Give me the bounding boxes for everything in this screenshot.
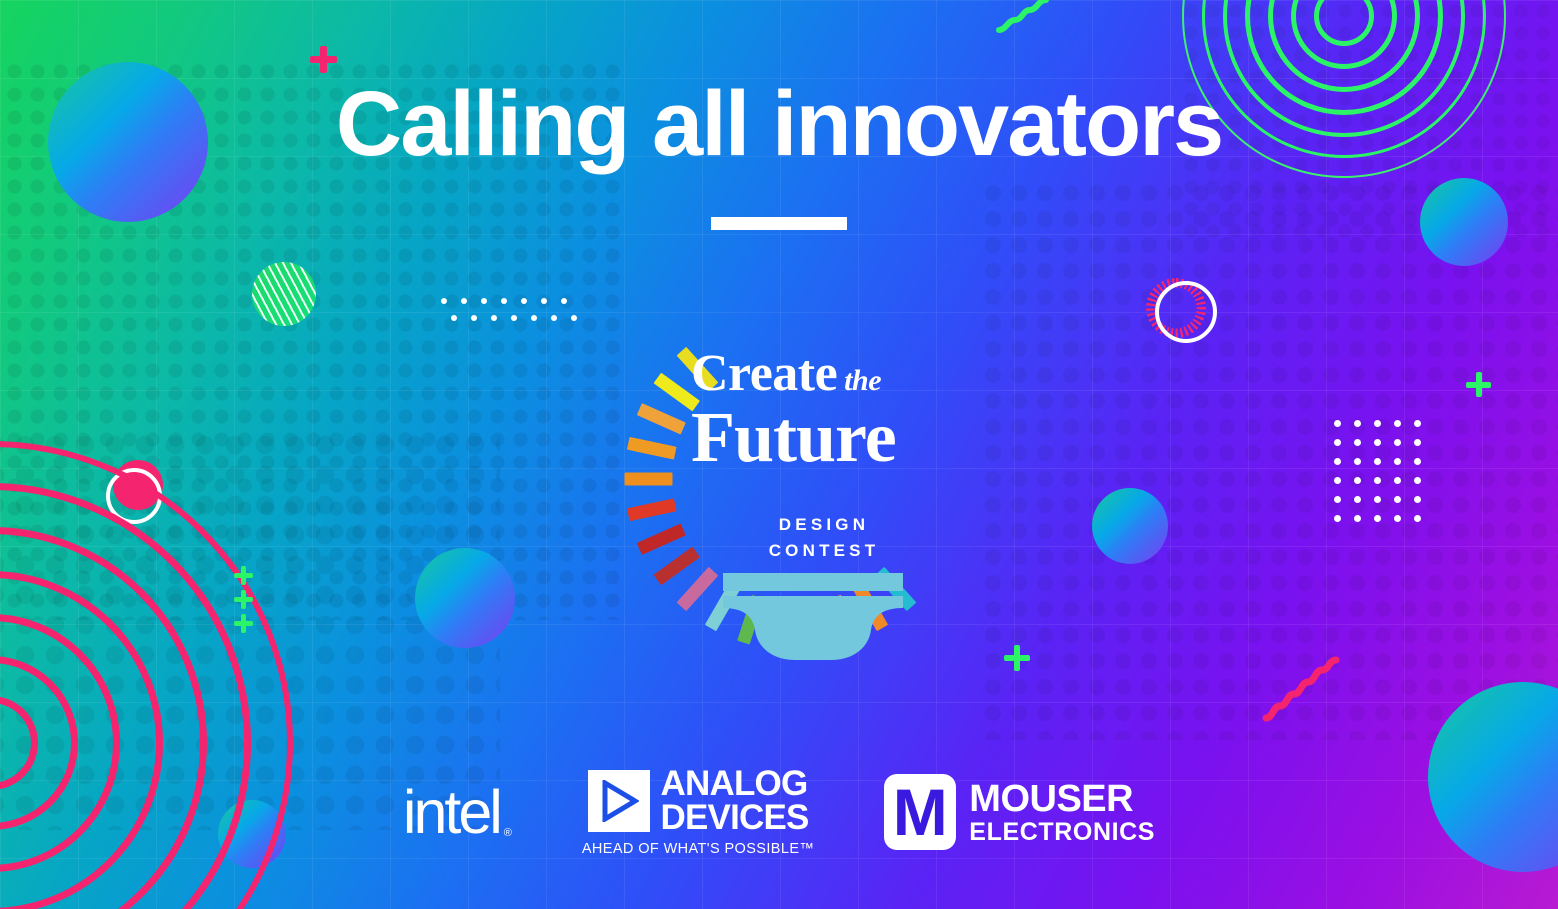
logo-subtitle: DESIGN CONTEST bbox=[719, 512, 929, 563]
plus-mark-green-stack-2 bbox=[234, 590, 253, 609]
ray bbox=[627, 436, 677, 459]
logo-line-future: Future bbox=[691, 402, 991, 473]
ray bbox=[627, 498, 677, 521]
sponsor-analog-devices: ANALOG DEVICES AHEAD OF WHAT'S POSSIBLE™ bbox=[582, 767, 814, 858]
white-ring-left bbox=[106, 468, 162, 524]
dot-grid-right bbox=[1334, 420, 1434, 534]
headline-block: Calling all innovators bbox=[0, 78, 1558, 230]
green-concentric-rings bbox=[1343, 15, 1344, 16]
ray bbox=[654, 546, 700, 585]
logo-word-the: the bbox=[844, 364, 881, 397]
dot-grid-headline bbox=[441, 298, 581, 317]
page-title: Calling all innovators bbox=[0, 78, 1558, 170]
ray bbox=[637, 523, 686, 554]
gradient-circle-mid-right bbox=[1092, 488, 1168, 564]
headline-underline bbox=[711, 217, 847, 230]
registered-mark-icon: ® bbox=[504, 828, 512, 839]
adi-logo-main: ANALOG DEVICES bbox=[588, 767, 809, 835]
plus-mark-green-right bbox=[1466, 372, 1491, 397]
ray bbox=[637, 403, 686, 434]
intel-text: intel bbox=[403, 778, 500, 846]
logo-subtitle-line2: CONTEST bbox=[719, 538, 929, 564]
ray bbox=[625, 472, 673, 485]
adi-triangle-icon bbox=[588, 770, 650, 832]
white-ring-right bbox=[1155, 281, 1217, 343]
adi-line2: DEVICES bbox=[661, 801, 809, 835]
sponsor-intel: intel ® bbox=[403, 782, 512, 843]
dot-grid-headline-offset bbox=[451, 315, 591, 334]
mouser-line2: ELECTRONICS bbox=[969, 820, 1155, 845]
adi-tagline: AHEAD OF WHAT'S POSSIBLE™ bbox=[582, 841, 814, 857]
adi-line1: ANALOG bbox=[661, 767, 809, 801]
sponsor-row: intel ® ANALOG DEVICES AHEAD OF WHAT'S P… bbox=[0, 757, 1558, 867]
create-the-future-logo: Createthe Future DESIGN CONTEST bbox=[595, 262, 985, 647]
ray bbox=[677, 566, 719, 610]
logo-line-create: Createthe bbox=[691, 348, 991, 400]
mouser-monogram-icon: M bbox=[884, 774, 956, 850]
sponsor-mouser-electronics: M MOUSER ELECTRONICS bbox=[884, 774, 1155, 850]
plus-mark-pink bbox=[310, 46, 337, 73]
bulb-collar bbox=[723, 573, 903, 591]
striped-circle bbox=[252, 262, 316, 326]
promo-banner: Calling all innovators Createthe Future bbox=[0, 0, 1558, 909]
green-squiggle bbox=[996, 0, 1052, 34]
gradient-circle-mid-left bbox=[415, 548, 515, 648]
plus-mark-green-center bbox=[1004, 645, 1030, 671]
mouser-wordmark: MOUSER ELECTRONICS bbox=[969, 780, 1155, 845]
plus-mark-green-stack-1 bbox=[234, 566, 253, 585]
mouser-line1: MOUSER bbox=[969, 780, 1155, 818]
adi-wordmark: ANALOG DEVICES bbox=[661, 767, 809, 835]
plus-mark-green-stack-3 bbox=[234, 614, 253, 633]
bulb-screw-base bbox=[723, 596, 903, 660]
pink-squiggle bbox=[1262, 648, 1340, 724]
intel-wordmark: intel ® bbox=[403, 782, 512, 843]
logo-wordmark: Createthe Future bbox=[691, 348, 991, 473]
logo-subtitle-line1: DESIGN bbox=[719, 512, 929, 538]
